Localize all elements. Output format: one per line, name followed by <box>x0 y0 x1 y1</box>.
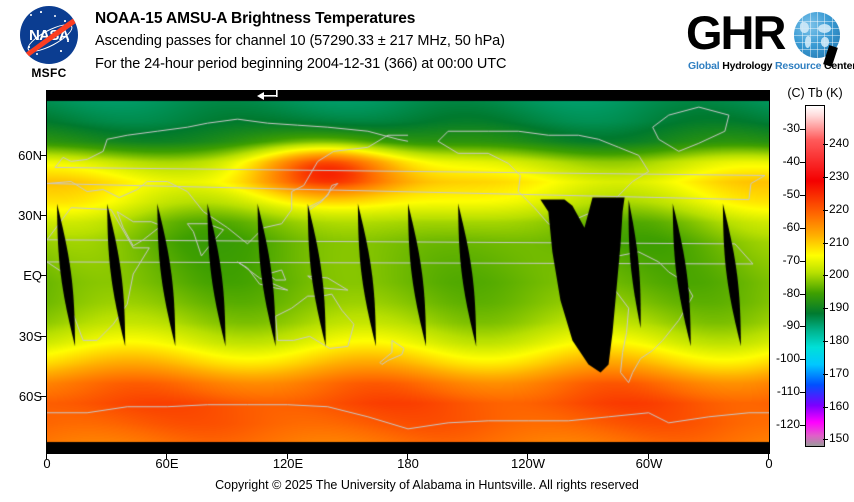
colorbar-celsius-label-8: -110 <box>774 384 800 398</box>
page-subtitle-channel: Ascending passes for channel 10 (57290.3… <box>95 30 675 53</box>
colorbar-celsius-tick-8 <box>800 392 805 393</box>
colorbar-kelvin-tick-5 <box>823 308 828 309</box>
colorbar-celsius-tick-6 <box>800 326 805 327</box>
colorbar-kelvin-tick-2 <box>823 210 828 211</box>
lon-label-120e: 120E <box>265 456 311 471</box>
colorbar-celsius-tick-9 <box>800 425 805 426</box>
colorbar-celsius-tick-7 <box>800 359 805 360</box>
pass-direction-arrow-icon <box>256 90 278 102</box>
colorbar-celsius-label-9: -120 <box>774 417 800 431</box>
ghrc-subtitle-word-center: Center <box>824 60 854 72</box>
colorbar-kelvin-tick-9 <box>823 439 828 440</box>
lat-label-30n: 30N <box>2 208 42 223</box>
lon-label-60w: 60W <box>626 456 672 471</box>
colorbar-celsius-tick-3 <box>800 228 805 229</box>
colorbar-kelvin-label-6: 180 <box>829 333 854 347</box>
ghrc-subtitle-word-global: Global <box>688 60 719 72</box>
colorbar-celsius-tick-4 <box>800 261 805 262</box>
lat-label-60n: 60N <box>2 148 42 163</box>
colorbar-kelvin-tick-0 <box>823 144 828 145</box>
nasa-logo: NASA MSFC <box>13 6 85 84</box>
colorbar-kelvin-tick-6 <box>823 341 828 342</box>
colorbar: (C) Tb (K) -30-40-50-60-70-80-90-100-110… <box>778 86 854 466</box>
colorbar-celsius-label-1: -40 <box>774 154 800 168</box>
colorbar-header: (C) Tb (K) <box>776 86 854 100</box>
ghrc-wordmark: GHR <box>686 8 784 58</box>
colorbar-kelvin-tick-1 <box>823 177 828 178</box>
lat-label-eq: EQ <box>2 268 42 283</box>
colorbar-kelvin-label-3: 210 <box>829 235 854 249</box>
colorbar-celsius-label-0: -30 <box>774 121 800 135</box>
colorbar-kelvin-tick-3 <box>823 243 828 244</box>
colorbar-celsius-tick-2 <box>800 195 805 196</box>
title-block: NOAA-15 AMSU-A Brightness Temperatures A… <box>95 8 675 76</box>
lon-label-120w: 120W <box>505 456 551 471</box>
colorbar-celsius-label-2: -50 <box>774 187 800 201</box>
copyright-notice: Copyright © 2025 The University of Alaba… <box>0 478 854 492</box>
lon-label-0: 0 <box>24 456 70 471</box>
lon-label-60e: 60E <box>144 456 190 471</box>
colorbar-celsius-label-5: -80 <box>774 286 800 300</box>
nasa-red-swoosh <box>20 10 78 62</box>
ghrc-logo: GHR Global Hydrology Resource Center <box>686 8 846 78</box>
nasa-center-label: MSFC <box>13 66 85 80</box>
colorbar-kelvin-label-0: 240 <box>829 136 854 150</box>
colorbar-celsius-label-6: -90 <box>774 318 800 332</box>
brightness-temperature-map <box>46 90 770 454</box>
colorbar-celsius-label-7: -100 <box>774 351 800 365</box>
colorbar-gradient <box>805 105 825 447</box>
colorbar-kelvin-label-9: 150 <box>829 431 854 445</box>
nasa-insignia-circle: NASA <box>20 6 78 64</box>
lat-tick-60s <box>40 396 46 397</box>
lat-label-60s: 60S <box>2 389 42 404</box>
colorbar-kelvin-tick-8 <box>823 407 828 408</box>
lat-tick-eq <box>40 275 46 276</box>
colorbar-celsius-label-3: -60 <box>774 220 800 234</box>
colorbar-kelvin-label-5: 190 <box>829 300 854 314</box>
page-subtitle-period: For the 24-hour period beginning 2004-12… <box>95 53 675 76</box>
lon-label-180: 180 <box>385 456 431 471</box>
lat-tick-60n <box>40 155 46 156</box>
colorbar-kelvin-tick-4 <box>823 275 828 276</box>
ghrc-subtitle-word-hydrology: Hydrology <box>722 60 772 72</box>
map-raster <box>47 91 769 453</box>
lat-tick-30n <box>40 215 46 216</box>
colorbar-kelvin-label-4: 200 <box>829 267 854 281</box>
lat-label-30s: 30S <box>2 329 42 344</box>
colorbar-celsius-label-4: -70 <box>774 253 800 267</box>
lat-tick-30s <box>40 336 46 337</box>
colorbar-kelvin-label-7: 170 <box>829 366 854 380</box>
page-header: NASA MSFC NOAA-15 AMSU-A Brightness Temp… <box>0 0 854 88</box>
colorbar-kelvin-label-2: 220 <box>829 202 854 216</box>
colorbar-kelvin-tick-7 <box>823 374 828 375</box>
ghrc-subtitle-word-resource: Resource <box>775 60 821 72</box>
colorbar-celsius-tick-0 <box>800 129 805 130</box>
colorbar-celsius-tick-1 <box>800 162 805 163</box>
colorbar-kelvin-label-1: 230 <box>829 169 854 183</box>
colorbar-celsius-tick-5 <box>800 294 805 295</box>
ghrc-subtitle: Global Hydrology Resource Center <box>688 60 854 72</box>
page-title: NOAA-15 AMSU-A Brightness Temperatures <box>95 8 675 30</box>
colorbar-kelvin-label-8: 160 <box>829 399 854 413</box>
